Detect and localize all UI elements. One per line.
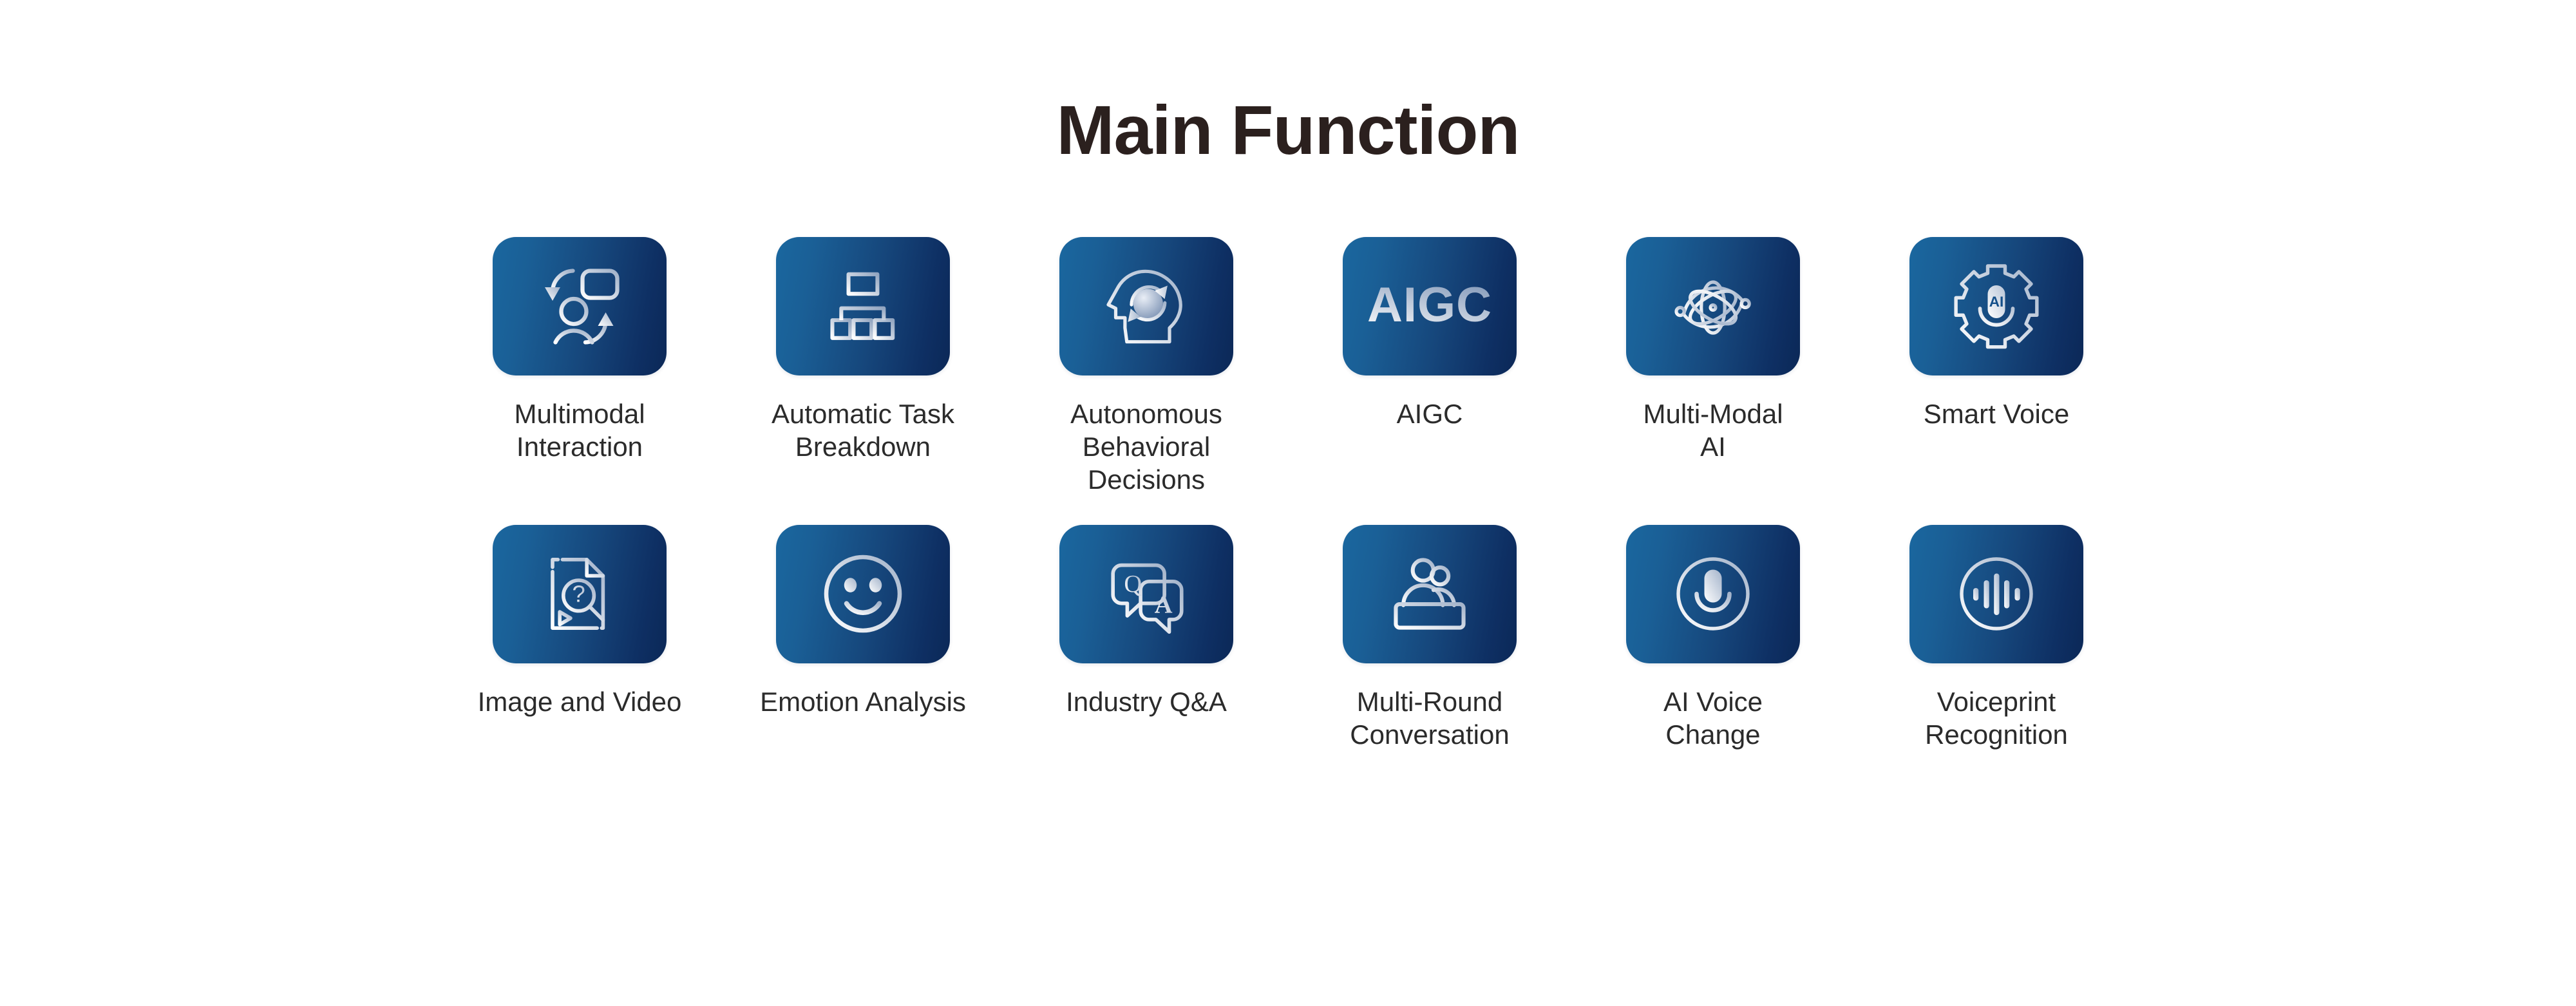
feature-label: Industry Q&A: [1066, 685, 1227, 718]
feature-label: Smart Voice: [1924, 397, 2069, 430]
q-label: Q: [1124, 571, 1142, 598]
feature-label: Voiceprint Recognition: [1925, 685, 2068, 751]
feature-tile[interactable]: [1909, 525, 2083, 663]
atom-orbit-icon: [1664, 258, 1762, 356]
feature-item-voiceprint-recognition[interactable]: Voiceprint Recognition: [1855, 525, 2138, 751]
feature-row-1: Multimodal Interaction: [438, 237, 2138, 497]
feature-label: Multi-Modal AI: [1643, 397, 1783, 463]
feature-label: Autonomous Behavioral Decisions: [1070, 397, 1222, 497]
feature-tile[interactable]: [776, 237, 950, 375]
microphone-circle-icon: [1665, 546, 1761, 642]
smiley-face-icon: [815, 546, 911, 642]
aigc-text-icon: AIGC: [1365, 271, 1494, 342]
feature-row-2: ? Image and Video: [438, 525, 2138, 751]
feature-item-ai-voice-change[interactable]: AI Voice Change: [1571, 525, 1855, 751]
feature-tile[interactable]: [1626, 237, 1800, 375]
multimodal-interaction-icon: [531, 258, 628, 355]
qa-speech-bubbles-icon: Q A: [1099, 546, 1194, 641]
feature-label: Emotion Analysis: [760, 685, 966, 718]
feature-tile[interactable]: AIGC: [1343, 237, 1517, 375]
people-table-icon: [1383, 547, 1477, 641]
feature-item-multi-modal-ai[interactable]: Multi-Modal AI: [1571, 237, 1855, 463]
feature-item-aigc[interactable]: AIGC AIGC: [1288, 237, 1571, 430]
ai-label: AI: [1989, 294, 2004, 310]
feature-item-image-and-video[interactable]: ? Image and Video: [438, 525, 721, 718]
feature-tile[interactable]: ?: [493, 525, 667, 663]
feature-tile[interactable]: [776, 525, 950, 663]
feature-tile[interactable]: [493, 237, 667, 375]
feature-label: Image and Video: [478, 685, 682, 718]
task-breakdown-hierarchy-icon: [820, 264, 905, 349]
feature-label: Automatic Task Breakdown: [772, 397, 954, 463]
document-search-video-icon: ?: [535, 549, 625, 639]
main-function-page: Main Function: [0, 0, 2576, 1006]
feature-item-emotion-analysis[interactable]: Emotion Analysis: [721, 525, 1005, 718]
feature-tile[interactable]: [1626, 525, 1800, 663]
waveform-circle-icon: [1948, 546, 2045, 642]
feature-item-autonomous-behavioral-decisions[interactable]: Autonomous Behavioral Decisions: [1005, 237, 1288, 497]
feature-item-automatic-task-breakdown[interactable]: Automatic Task Breakdown: [721, 237, 1005, 463]
feature-item-multimodal-interaction[interactable]: Multimodal Interaction: [438, 237, 721, 463]
feature-label: AIGC: [1397, 397, 1463, 430]
feature-tile[interactable]: [1059, 237, 1233, 375]
feature-label: AI Voice Change: [1663, 685, 1763, 751]
feature-tile[interactable]: AI: [1909, 237, 2083, 375]
a-label: A: [1155, 592, 1173, 619]
page-title: Main Function: [1057, 95, 1520, 165]
feature-item-smart-voice[interactable]: AI Smart Voice: [1855, 237, 2138, 430]
feature-label: Multimodal Interaction: [514, 397, 645, 463]
aigc-label: AIGC: [1367, 278, 1492, 332]
svg-text:?: ?: [572, 581, 585, 607]
feature-tile[interactable]: Q A: [1059, 525, 1233, 663]
feature-grid: Multimodal Interaction: [438, 237, 2138, 751]
feature-item-multi-round-conversation[interactable]: Multi-Round Conversation: [1288, 525, 1571, 751]
feature-tile[interactable]: [1343, 525, 1517, 663]
feature-label: Multi-Round Conversation: [1350, 685, 1509, 751]
head-refresh-icon: [1100, 260, 1193, 353]
gear-microphone-ai-icon: AI: [1948, 258, 2045, 355]
feature-item-industry-qa[interactable]: Q A Industry Q&A: [1005, 525, 1288, 718]
